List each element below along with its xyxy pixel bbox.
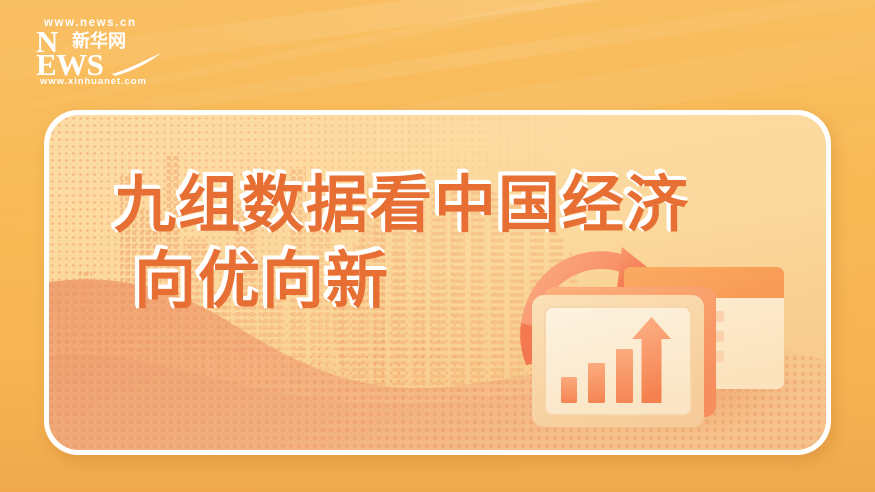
headline-line-2: 向优向新 xyxy=(134,243,690,319)
poster-canvas: www.news.cn N EWS 新华网 www.xinhuanet.com xyxy=(0,0,875,492)
headline-card: 九组数据看中国经济 向优向新 xyxy=(44,110,831,455)
bar-1 xyxy=(561,377,577,403)
logo-wordmark: N EWS 新华网 xyxy=(36,31,160,75)
bar-3 xyxy=(616,349,633,403)
bar-2 xyxy=(588,363,605,403)
headline-line-1: 九组数据看中国经济 xyxy=(114,167,690,243)
logo-chinese-name: 新华网 xyxy=(72,32,126,51)
page-title: 九组数据看中国经济 向优向新 xyxy=(114,167,690,319)
xinhuanet-logo[interactable]: www.news.cn N EWS 新华网 www.xinhuanet.com xyxy=(36,17,160,91)
logo-swoosh-icon xyxy=(112,53,162,77)
headline-card-inner: 九组数据看中国经济 向优向新 xyxy=(49,115,826,450)
logo-news-ews: EWS xyxy=(36,54,103,76)
